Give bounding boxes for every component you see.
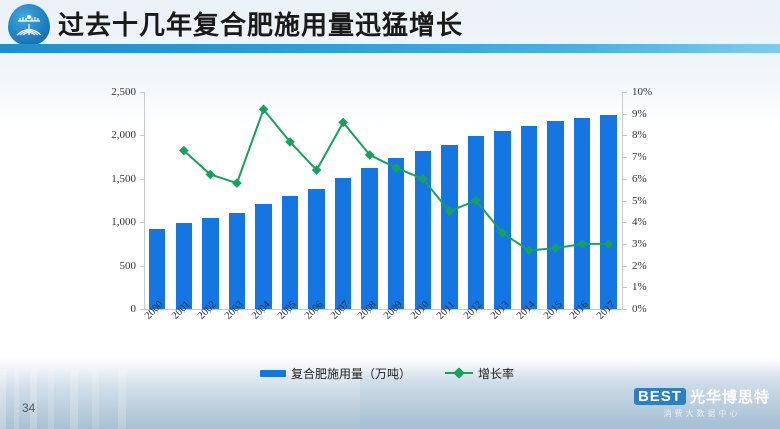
- brand-name-text: 光华博思特: [690, 386, 770, 407]
- chart-legend: 复合肥施用量（万吨） 增长率: [92, 362, 682, 384]
- y-axis-right-tick-mark: [623, 222, 627, 223]
- brand-mark-text: BEST: [634, 388, 686, 405]
- growth-rate-markers: [179, 105, 614, 256]
- line-marker-2009: [391, 163, 401, 173]
- line-marker-2017: [604, 239, 614, 249]
- line-marker-2016: [577, 239, 587, 249]
- y-axis-right-tick-mark: [623, 309, 627, 310]
- y-axis-right-tick-label: 1%: [632, 281, 672, 293]
- legend-item-line: 增长率: [445, 365, 514, 382]
- page-title: 过去十几年复合肥施用量迅猛增长: [58, 2, 758, 44]
- legend-bar-swatch-icon: [260, 370, 286, 377]
- growth-rate-polyline: [184, 109, 609, 250]
- growth-rate-line-series: [144, 92, 622, 309]
- y-axis-right-tick-label: 0%: [632, 303, 672, 315]
- line-marker-2003: [232, 178, 242, 188]
- legend-label-line: 增长率: [478, 365, 514, 382]
- y-axis-left-tick-label: 1,500: [92, 173, 136, 185]
- legend-item-bar: 复合肥施用量（万吨）: [260, 365, 411, 382]
- y-axis-right-tick-label: 4%: [632, 216, 672, 228]
- footer-brand-logo: BEST 光华博思特 消费大数据中心: [634, 386, 770, 419]
- y-axis-left-tick-mark: [140, 309, 144, 310]
- y-axis-right-tick-mark: [623, 201, 627, 202]
- y-axis-right-tick-label: 8%: [632, 129, 672, 141]
- y-axis-left-tick-label: 2,500: [92, 86, 136, 98]
- y-axis-right-tick-mark: [623, 157, 627, 158]
- y-axis-left-tick-label: 500: [92, 260, 136, 272]
- y-axis-right-tick-mark: [623, 135, 627, 136]
- y-axis-right-tick-mark: [623, 179, 627, 180]
- brand-subtitle-text: 消费大数据中心: [663, 408, 740, 419]
- slide-canvas: 过去十几年复合肥施用量迅猛增长 05001,0001,5002,0002,500…: [0, 0, 780, 429]
- y-axis-right-tick-label: 10%: [632, 86, 672, 98]
- location-pin-logo-icon: [8, 4, 50, 46]
- legend-label-bar: 复合肥施用量（万吨）: [291, 365, 411, 382]
- y-axis-right-tick-label: 9%: [632, 108, 672, 120]
- logo-glyph-icon: [15, 11, 43, 39]
- y-axis-right-tick-mark: [623, 287, 627, 288]
- legend-line-swatch-icon: [445, 368, 473, 378]
- header-accent-bar: [0, 44, 780, 53]
- y-axis-right-tick-mark: [623, 244, 627, 245]
- y-axis-right-tick-label: 7%: [632, 151, 672, 163]
- slide-header: 过去十几年复合肥施用量迅猛增长: [0, 0, 780, 54]
- y-axis-right-tick-mark: [623, 92, 627, 93]
- y-axis-left-tick-label: 1,000: [92, 216, 136, 228]
- y-axis-right-tick-label: 5%: [632, 195, 672, 207]
- line-marker-2015: [551, 243, 561, 253]
- y-axis-right-tick-label: 2%: [632, 260, 672, 272]
- y-axis-left-tick-label: 2,000: [92, 129, 136, 141]
- y-axis-right-tick-mark: [623, 114, 627, 115]
- chart-container: 05001,0001,5002,0002,500 0%1%2%3%4%5%6%7…: [92, 78, 682, 378]
- y-axis-right-tick-mark: [623, 266, 627, 267]
- y-axis-right-tick-label: 3%: [632, 238, 672, 250]
- page-number: 34: [22, 401, 35, 415]
- y-axis-right-tick-label: 6%: [632, 173, 672, 185]
- y-axis-left-tick-label: 0: [92, 303, 136, 315]
